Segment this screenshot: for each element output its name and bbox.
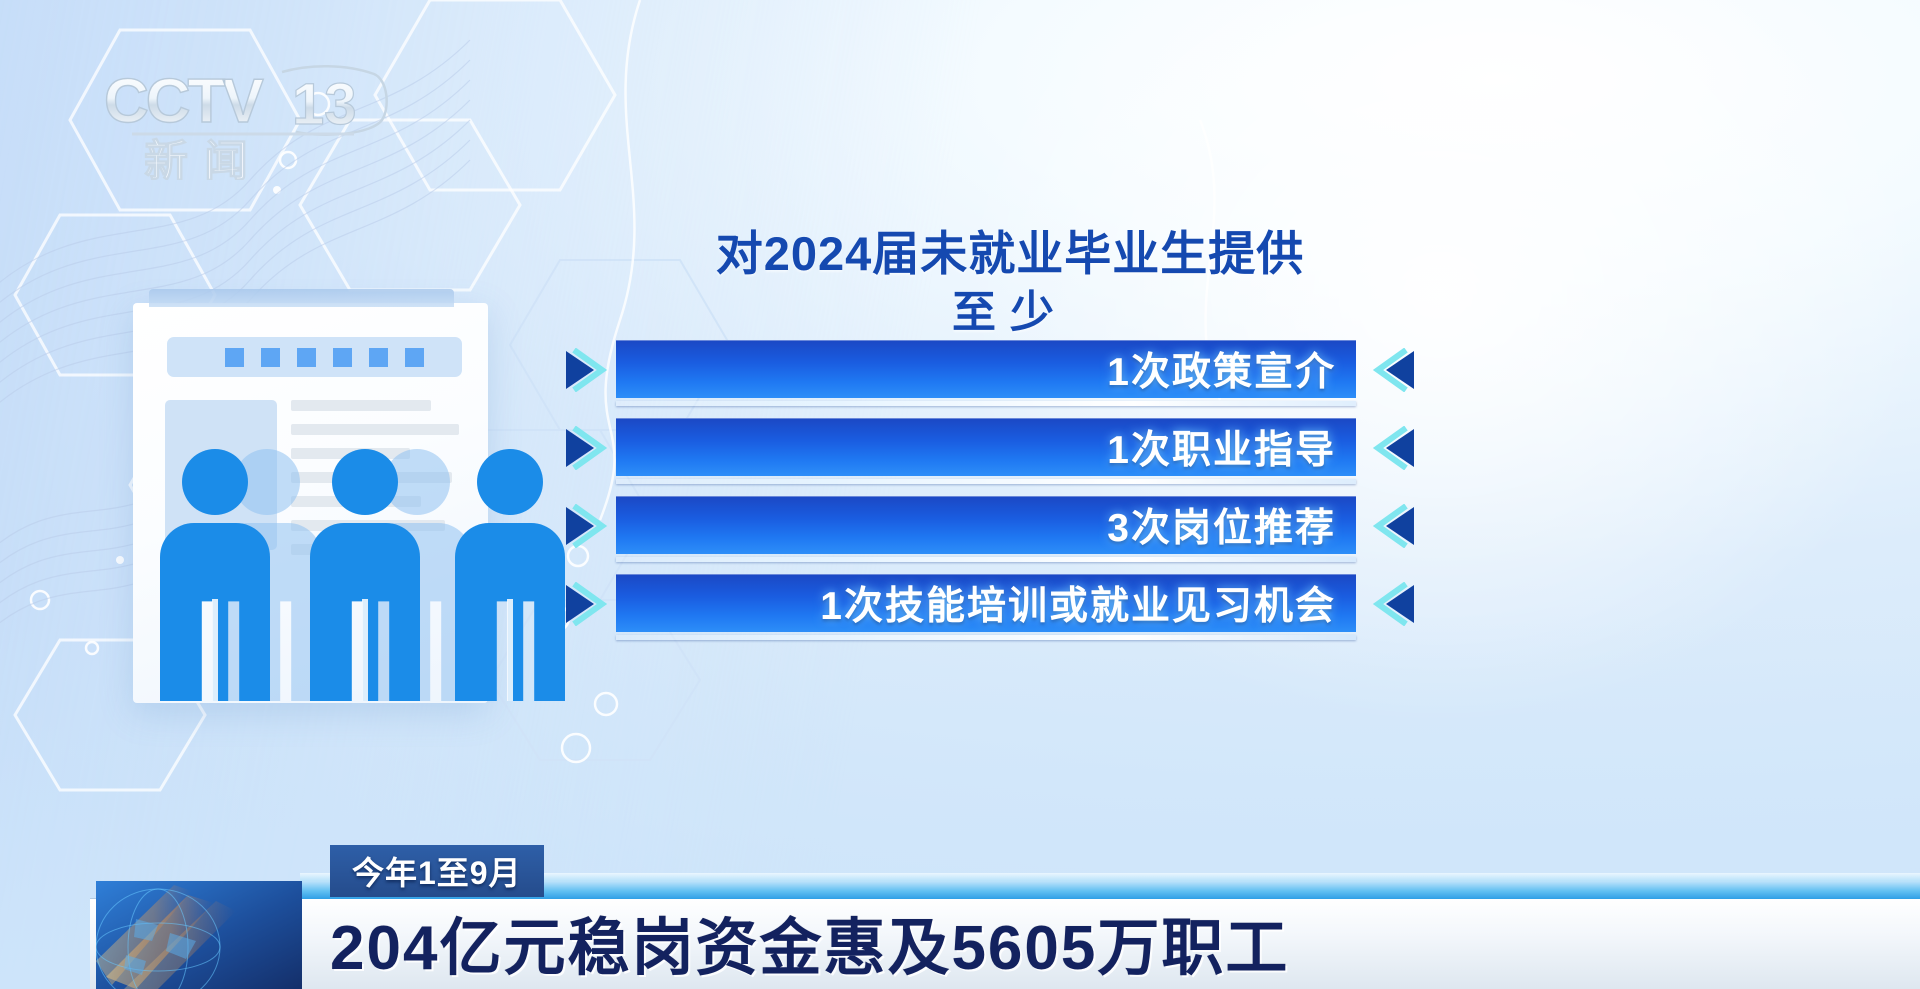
cctv13-logo: CCTV 13 新闻 — [96, 62, 396, 180]
kicker-text: 今年1至9月 — [352, 848, 522, 894]
policy-bar-row: 3次岗位推荐 — [556, 496, 1356, 562]
heading-line-1: 对2024届未就业毕业生提供 — [560, 228, 1460, 281]
policy-bar: 3次岗位推荐 — [616, 496, 1356, 554]
policy-bar: 1次职业指导 — [616, 418, 1356, 476]
policy-bar-label: 1次政策宣介 — [1107, 341, 1336, 397]
person-figure — [310, 449, 420, 701]
chevron-left-icon — [1370, 582, 1420, 626]
policy-bar: 1次技能培训或就业见习机会 — [616, 574, 1356, 632]
chevron-right-icon — [560, 426, 610, 470]
people-illustration — [150, 449, 570, 701]
policy-bar-label: 1次职业指导 — [1107, 419, 1336, 475]
chevron-left-icon — [1370, 348, 1420, 392]
headline-text: 204亿元稳岗资金惠及5605万职工 — [330, 897, 1289, 987]
document-toolbar — [167, 337, 462, 377]
policy-bar-row: 1次技能培训或就业见习机会 — [556, 574, 1356, 640]
svg-text:CCTV: CCTV — [104, 67, 263, 136]
chevron-left-icon — [1370, 504, 1420, 548]
person-figure — [160, 449, 270, 701]
chevron-left-icon — [1370, 426, 1420, 470]
lower-third-headline: 204亿元稳岗资金惠及5605万职工 — [330, 899, 1289, 985]
policy-bar-row: 1次职业指导 — [556, 418, 1356, 484]
person-figure — [455, 449, 565, 701]
chevron-right-icon — [560, 504, 610, 548]
policy-bar-row: 1次政策宣介 — [556, 340, 1356, 406]
policy-bar-label: 1次技能培训或就业见习机会 — [820, 575, 1336, 631]
globe-graphic — [96, 881, 302, 989]
svg-text:13: 13 — [292, 72, 357, 137]
policy-bar-label: 3次岗位推荐 — [1107, 497, 1336, 553]
svg-text:新闻: 新闻 — [144, 137, 264, 180]
chevron-right-icon — [560, 348, 610, 392]
policy-bar: 1次政策宣介 — [616, 340, 1356, 398]
policy-bar-list: 1次政策宣介 1次职业指导 — [556, 340, 1356, 652]
chevron-right-icon — [560, 582, 610, 626]
lower-third-banner: 今年1至9月 204亿元稳岗资金惠及5605万职工 — [0, 865, 1920, 989]
heading-line-2: 至少 — [560, 285, 1460, 340]
headline-block: 对2024届未就业毕业生提供 至少 — [560, 228, 1460, 340]
broadcast-graphic-stage: CCTV 13 新闻 — [0, 0, 1920, 989]
lower-third-kicker: 今年1至9月 — [330, 845, 544, 897]
